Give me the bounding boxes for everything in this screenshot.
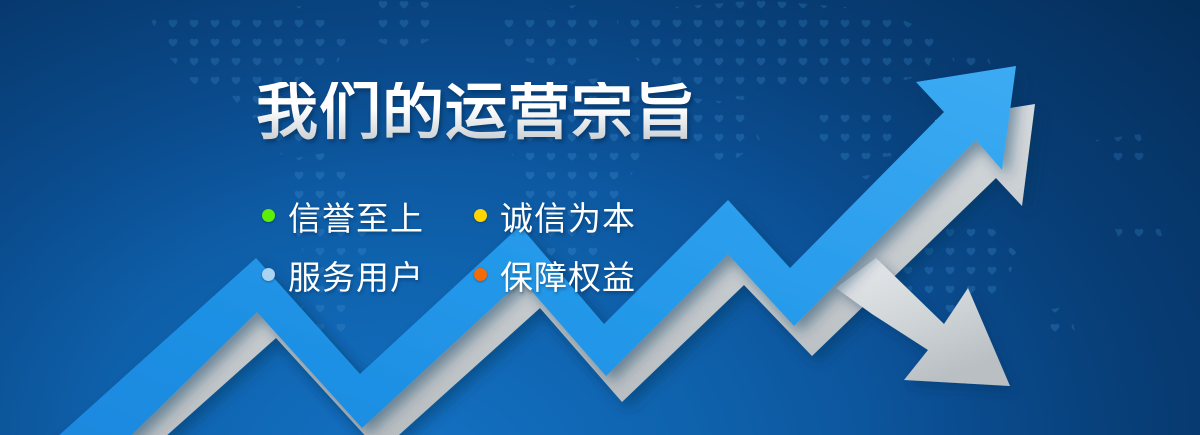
bullet-yellow-icon	[474, 209, 487, 222]
bullet-light-blue-icon	[262, 268, 275, 281]
promo-banner: 我们的运营宗旨 信誉至上 诚信为本 服务用户 保障权	[0, 0, 1200, 435]
slogan-item-2: 诚信为本	[474, 192, 636, 240]
slogan-label: 诚信为本	[500, 192, 636, 240]
slogan-item-4: 保障权益	[474, 251, 636, 299]
slogan-item-3: 服务用户	[262, 251, 474, 299]
page-title: 我们的运营宗旨	[256, 82, 697, 144]
slogan-row: 服务用户 保障权益	[262, 245, 682, 304]
slogan-label: 信誉至上	[288, 192, 424, 240]
slogan-list: 信誉至上 诚信为本 服务用户 保障权益	[262, 186, 682, 304]
slogan-label: 保障权益	[500, 251, 636, 299]
bullet-orange-icon	[474, 268, 487, 281]
slogan-label: 服务用户	[288, 251, 424, 299]
copy-block: 我们的运营宗旨 信誉至上 诚信为本 服务用户 保障权	[0, 0, 1200, 435]
slogan-item-1: 信誉至上	[262, 192, 474, 240]
bullet-green-icon	[262, 209, 275, 222]
slogan-row: 信誉至上 诚信为本	[262, 186, 682, 245]
